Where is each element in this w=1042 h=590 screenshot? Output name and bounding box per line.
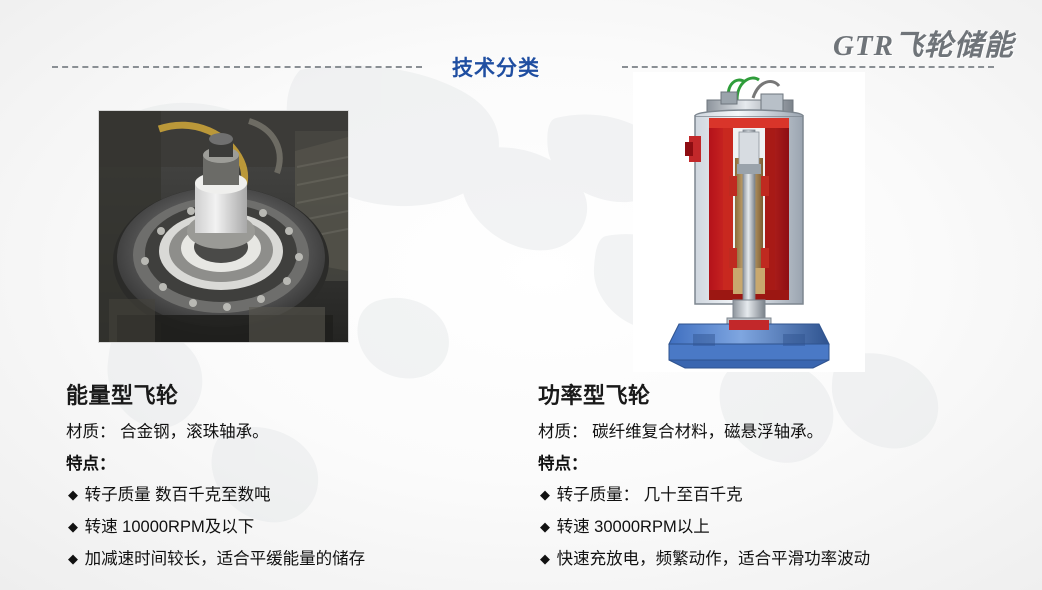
energy-type-heading: 能量型飞轮 <box>66 378 536 410</box>
diamond-bullet-icon: ◆ <box>68 487 78 502</box>
list-item: ◆ 转子质量： 几十至百千克 <box>538 485 1038 506</box>
power-type-features-label: 特点： <box>538 454 1038 475</box>
diamond-bullet-icon: ◆ <box>68 551 78 566</box>
energy-type-flywheel-block: 能量型飞轮 材质： 合金钢，滚珠轴承。 特点： ◆ 转子质量 数百千克至数吨 ◆… <box>66 378 536 580</box>
material-value: 碳纤维复合材料，磁悬浮轴承。 <box>592 423 823 441</box>
list-item: ◆ 转速 10000RPM及以下 <box>66 517 536 538</box>
power-type-material-line: 材质： 碳纤维复合材料，磁悬浮轴承。 <box>538 422 1038 443</box>
list-item-text: 转子质量： 几十至百千克 <box>557 486 743 504</box>
list-item-text: 转子质量 数百千克至数吨 <box>85 486 271 504</box>
list-item-text: 加减速时间较长，适合平缓能量的储存 <box>85 550 366 568</box>
slide-canvas: 技术分类 GTR飞轮储能 <box>0 0 1042 590</box>
energy-type-material-line: 材质： 合金钢，滚珠轴承。 <box>66 422 536 443</box>
diamond-bullet-icon: ◆ <box>540 551 550 566</box>
diamond-bullet-icon: ◆ <box>540 519 550 534</box>
list-item: ◆ 加减速时间较长，适合平缓能量的储存 <box>66 549 536 570</box>
page-title: 技术分类 <box>452 52 540 82</box>
list-item-text: 转速 30000RPM以上 <box>557 518 710 536</box>
power-type-flywheel-block: 功率型飞轮 材质： 碳纤维复合材料，磁悬浮轴承。 特点： ◆ 转子质量： 几十至… <box>538 378 1038 580</box>
power-type-heading: 功率型飞轮 <box>538 378 1038 410</box>
material-label: 材质： <box>538 423 588 441</box>
material-value: 合金钢，滚珠轴承。 <box>120 423 269 441</box>
list-item: ◆ 转子质量 数百千克至数吨 <box>66 485 536 506</box>
energy-type-flywheel-photo <box>98 110 349 343</box>
list-item: ◆ 转速 30000RPM以上 <box>538 517 1038 538</box>
brand-logo-text: GTR飞轮储能 <box>833 22 1014 64</box>
list-item-text: 快速充放电，频繁动作，适合平滑功率波动 <box>557 550 871 568</box>
diamond-bullet-icon: ◆ <box>540 487 550 502</box>
diamond-bullet-icon: ◆ <box>68 519 78 534</box>
power-type-flywheel-diagram <box>633 72 865 372</box>
list-item-text: 转速 10000RPM及以下 <box>85 518 255 536</box>
energy-type-features-label: 特点： <box>66 454 536 475</box>
slide-header: 技术分类 GTR飞轮储能 <box>0 0 1042 92</box>
dashed-rule-right <box>622 66 994 68</box>
list-item: ◆ 快速充放电，频繁动作，适合平滑功率波动 <box>538 549 1038 570</box>
dashed-rule-left <box>52 66 422 68</box>
material-label: 材质： <box>66 423 116 441</box>
